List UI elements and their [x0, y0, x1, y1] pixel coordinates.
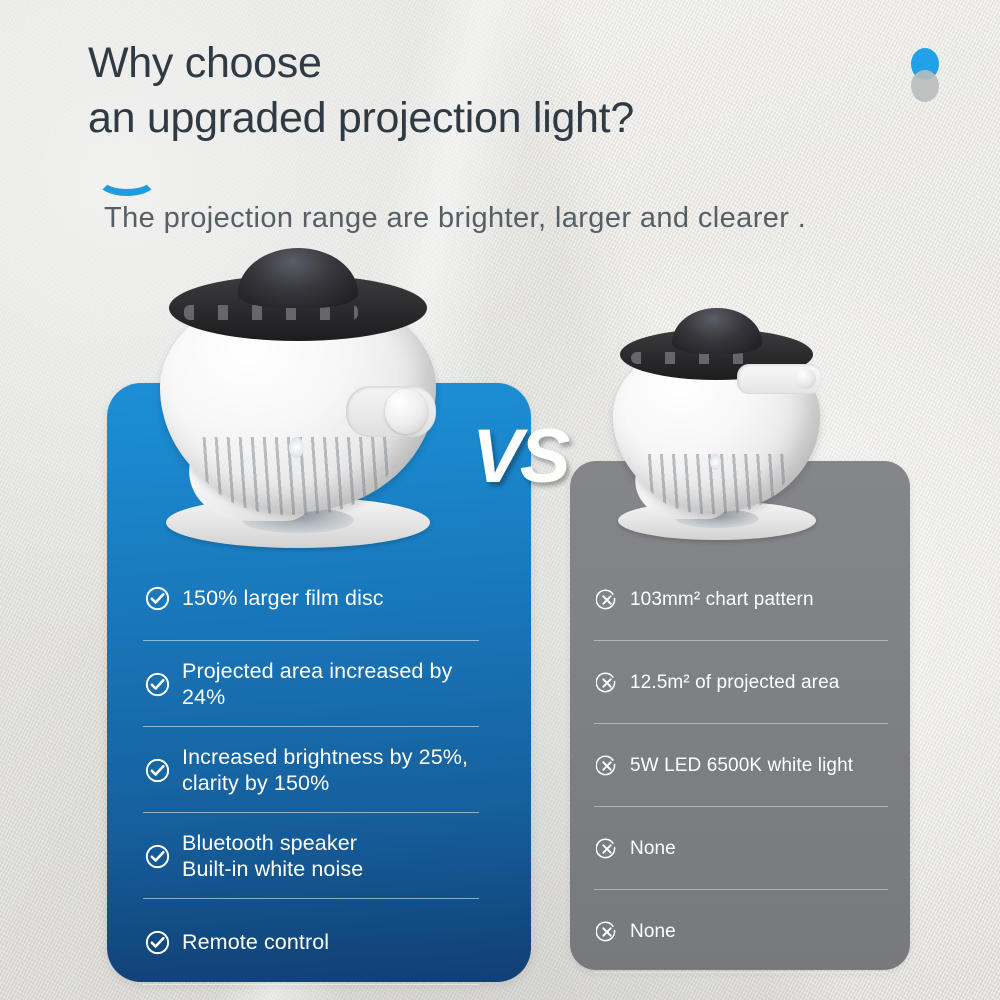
- list-item-divider: [143, 984, 479, 985]
- projector-lens-dome: [672, 308, 762, 354]
- upgraded-projector-image: [148, 248, 448, 548]
- projector-side-knob: [385, 389, 427, 434]
- list-item: Remote control: [107, 899, 531, 985]
- list-item: 103mm² chart pattern: [570, 558, 910, 641]
- projector-side-knob: [795, 368, 815, 389]
- list-item: Increased brightness by 25%, clarity by …: [107, 727, 531, 813]
- list-item-label: Bluetooth speaker Built-in white noise: [182, 830, 363, 882]
- dot-pair-decoration: [906, 48, 950, 114]
- list-item-label: None: [630, 920, 676, 943]
- upgraded-feature-list: 150% larger film disc Projected area inc…: [107, 555, 531, 985]
- list-item-label: Remote control: [182, 929, 329, 955]
- check-circle-icon: [145, 672, 170, 697]
- projector-lens-dome: [238, 248, 358, 308]
- infographic-page: Why choosean upgraded projection light? …: [0, 0, 1000, 1000]
- versus-label: VS: [472, 419, 567, 495]
- list-item: 12.5m² of projected area: [570, 641, 910, 724]
- list-item-label: 150% larger film disc: [182, 585, 384, 611]
- list-item: 150% larger film disc: [107, 555, 531, 641]
- x-circle-icon: [596, 838, 618, 860]
- x-circle-icon: [596, 921, 618, 943]
- gray-dot-icon: [911, 70, 939, 102]
- page-title-line-2: an upgraded projection light?: [88, 91, 634, 146]
- smile-arc-icon: [96, 156, 158, 196]
- list-item-label: 5W LED 6500K white light: [630, 754, 853, 777]
- projector-buttons: [631, 352, 762, 364]
- standard-feature-list: 103mm² chart pattern 12.5m² of projected…: [570, 558, 910, 973]
- x-circle-icon: [596, 672, 618, 694]
- check-circle-icon: [145, 758, 170, 783]
- list-item-label: Projected area increased by 24%: [182, 658, 487, 710]
- projector-led: [289, 437, 304, 458]
- list-item-label: 12.5m² of projected area: [630, 671, 839, 694]
- list-item-divider: [594, 972, 888, 973]
- page-title: Why choosean upgraded projection light?: [88, 36, 634, 146]
- list-item: None: [570, 807, 910, 890]
- check-circle-icon: [145, 930, 170, 955]
- page-title-line-1: Why choose: [88, 39, 322, 87]
- standard-projector-image: [604, 308, 829, 540]
- list-item: Projected area increased by 24%: [107, 641, 531, 727]
- x-circle-icon: [596, 589, 618, 611]
- list-item: Bluetooth speaker Built-in white noise: [107, 813, 531, 899]
- list-item-label: None: [630, 837, 676, 860]
- list-item: 5W LED 6500K white light: [570, 724, 910, 807]
- list-item-label: Increased brightness by 25%, clarity by …: [182, 744, 468, 796]
- check-circle-icon: [145, 844, 170, 869]
- check-circle-icon: [145, 586, 170, 611]
- page-subtitle: The projection range are brighter, large…: [104, 202, 806, 235]
- x-circle-icon: [596, 755, 618, 777]
- list-item-label: 103mm² chart pattern: [630, 588, 814, 611]
- list-item: None: [570, 890, 910, 973]
